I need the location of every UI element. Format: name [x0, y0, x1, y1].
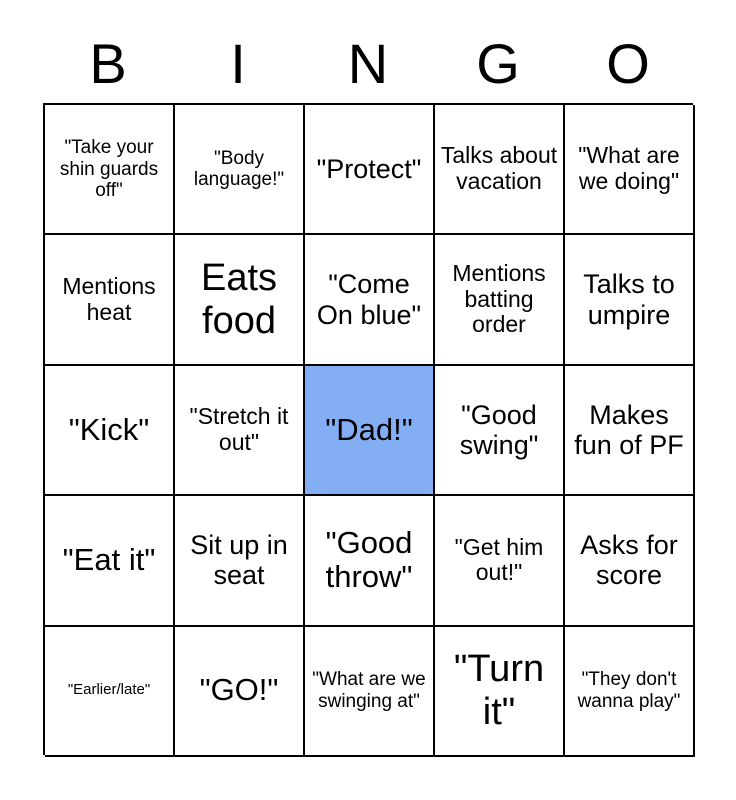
bingo-cell-label: "Dad!": [309, 413, 429, 448]
bingo-cell-r4-c3[interactable]: "Turn it": [435, 627, 565, 757]
bingo-cell-r0-c0[interactable]: "Take your shin guards off": [45, 105, 175, 235]
bingo-cell-label: "They don't wanna play": [569, 669, 689, 712]
bingo-cell-label: Talks to umpire: [569, 269, 689, 329]
bingo-cell-label: "Kick": [49, 413, 169, 448]
bingo-cell-r1-c2[interactable]: "Come On blue": [305, 235, 435, 365]
bingo-cell-label: "Get him out!": [439, 535, 559, 587]
bingo-cell-label: Eats food: [179, 257, 299, 342]
bingo-cell-r2-c0[interactable]: "Kick": [45, 366, 175, 496]
bingo-cell-label: Makes fun of PF: [569, 400, 689, 460]
bingo-cell-r0-c1[interactable]: "Body language!": [175, 105, 305, 235]
bingo-cell-r3-c4[interactable]: Asks for score: [565, 496, 695, 626]
bingo-cell-r3-c0[interactable]: "Eat it": [45, 496, 175, 626]
bingo-cell-label: Sit up in seat: [179, 530, 299, 590]
bingo-cell-label: "GO!": [179, 673, 299, 708]
bingo-cell-r3-c3[interactable]: "Get him out!": [435, 496, 565, 626]
bingo-cell-r2-c2[interactable]: "Dad!": [305, 366, 435, 496]
bingo-cell-label: Mentions batting order: [439, 261, 559, 338]
bingo-cell-r1-c3[interactable]: Mentions batting order: [435, 235, 565, 365]
bingo-cell-r2-c3[interactable]: "Good swing": [435, 366, 565, 496]
bingo-cell-label: "Good swing": [439, 400, 559, 460]
bingo-cell-r4-c1[interactable]: "GO!": [175, 627, 305, 757]
bingo-cell-r4-c4[interactable]: "They don't wanna play": [565, 627, 695, 757]
bingo-header-letter-3: G: [433, 28, 563, 100]
bingo-cell-label: "Come On blue": [309, 269, 429, 329]
bingo-grid: "Take your shin guards off""Body languag…: [43, 103, 693, 755]
bingo-cell-r4-c0[interactable]: "Earlier/late": [45, 627, 175, 757]
bingo-cell-label: "Turn it": [439, 648, 559, 733]
bingo-cell-r3-c1[interactable]: Sit up in seat: [175, 496, 305, 626]
bingo-cell-label: "Take your shin guards off": [49, 137, 169, 201]
bingo-cell-r4-c2[interactable]: "What are we swinging at": [305, 627, 435, 757]
bingo-cell-label: Mentions heat: [49, 274, 169, 326]
bingo-cell-label: "Body language!": [179, 148, 299, 191]
bingo-header-letter-2: N: [303, 28, 433, 100]
bingo-cell-label: "Good throw": [309, 526, 429, 595]
bingo-cell-r2-c1[interactable]: "Stretch it out": [175, 366, 305, 496]
bingo-cell-r1-c4[interactable]: Talks to umpire: [565, 235, 695, 365]
bingo-cell-label: "What are we swinging at": [309, 669, 429, 712]
bingo-header-row: BINGO: [43, 28, 693, 100]
bingo-cell-label: "Earlier/late": [49, 682, 169, 699]
bingo-header-letter-1: I: [173, 28, 303, 100]
bingo-card: BINGO "Take your shin guards off""Body l…: [0, 0, 736, 800]
bingo-header-letter-0: B: [43, 28, 173, 100]
bingo-cell-label: "Eat it": [49, 543, 169, 578]
bingo-cell-label: "Protect": [309, 154, 429, 184]
bingo-cell-label: Talks about vacation: [439, 143, 559, 195]
bingo-cell-r0-c4[interactable]: "What are we doing": [565, 105, 695, 235]
bingo-cell-label: Asks for score: [569, 530, 689, 590]
bingo-cell-label: "What are we doing": [569, 143, 689, 195]
bingo-cell-r2-c4[interactable]: Makes fun of PF: [565, 366, 695, 496]
bingo-cell-r0-c3[interactable]: Talks about vacation: [435, 105, 565, 235]
bingo-cell-r3-c2[interactable]: "Good throw": [305, 496, 435, 626]
bingo-cell-r1-c1[interactable]: Eats food: [175, 235, 305, 365]
bingo-cell-r0-c2[interactable]: "Protect": [305, 105, 435, 235]
bingo-cell-label: "Stretch it out": [179, 404, 299, 456]
bingo-cell-r1-c0[interactable]: Mentions heat: [45, 235, 175, 365]
bingo-header-letter-4: O: [563, 28, 693, 100]
